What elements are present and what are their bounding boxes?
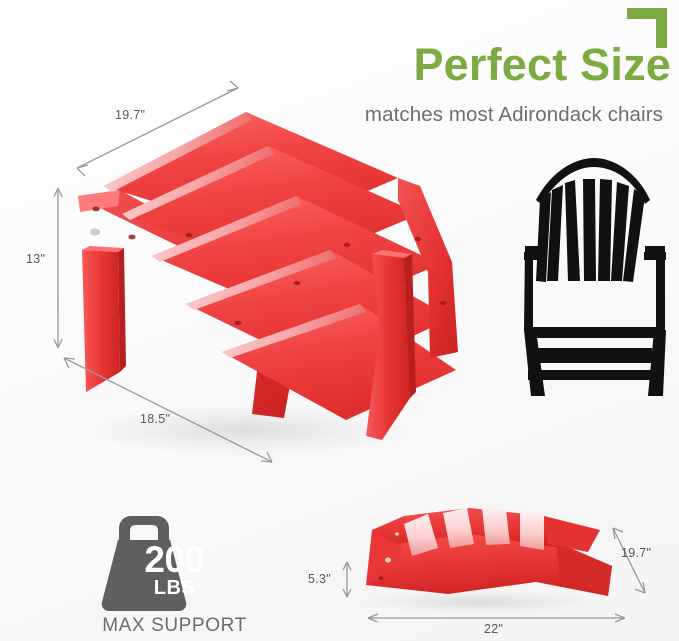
page-title: Perfect Size [241,42,671,87]
folded-screw-holes [379,532,399,580]
ottoman-front-leg [366,250,416,440]
ottoman-right-rail [398,178,458,358]
folded-lower-rail [366,530,612,596]
ottoman-folded-view [355,508,612,614]
infographic-page: Perfect Size matches most Adirondack cha… [0,0,679,641]
folded-tail-right [556,542,612,596]
dimension-label-depth: 18.5" [140,412,170,426]
dimension-label-height: 13" [26,252,45,266]
weight-unit: LBS [62,577,287,600]
max-support-label: MAX SUPPORT [62,615,287,637]
ottoman-screw-holes [90,207,446,326]
ottoman-slats [104,112,456,420]
folded-tail-upper [544,516,600,552]
folded-slats [404,508,544,556]
dimension-label-folded-thickness: 5.3" [308,572,331,586]
dimension-lines-folded [343,528,645,622]
dimension-label-width: 19.7" [115,108,145,122]
dimension-label-folded-depth: 19.7" [621,546,651,560]
ottoman-left-rail-top [78,190,120,212]
ottoman-left-rail [78,190,300,418]
dimension-lines-main [54,81,272,462]
ottoman-rear-leg [82,246,126,392]
ottoman-main-view [78,112,458,440]
weight-value: 200 [62,539,287,581]
adirondack-chair-silhouette [524,158,666,396]
page-subtitle: matches most Adirondack chairs [233,103,663,127]
ottoman-shadow [75,404,415,456]
folded-nose-left [366,524,404,585]
folded-shadow [355,590,605,614]
dimension-label-folded-width: 22" [484,622,503,636]
folded-upper-rail [372,508,588,548]
